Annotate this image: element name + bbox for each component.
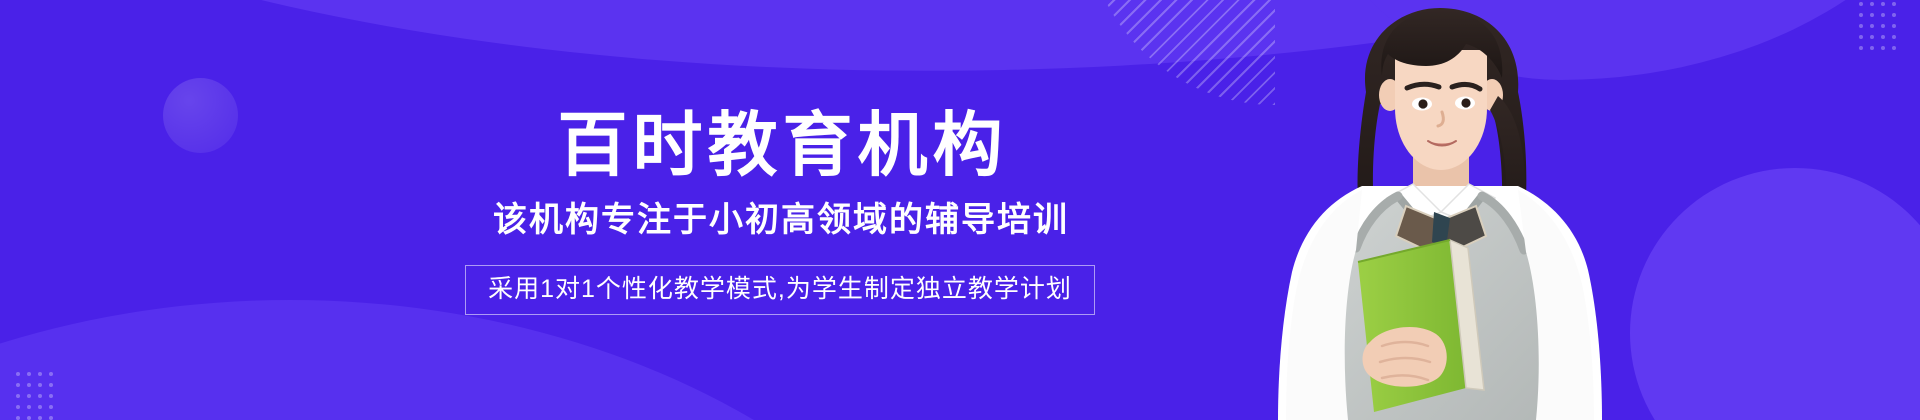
student-photo (1230, 0, 1650, 420)
dot (1859, 46, 1863, 50)
banner-title: 百时教育机构 (553, 105, 1008, 186)
dot (1870, 35, 1874, 39)
dot (1881, 35, 1885, 39)
decorative-dot-grid-top-right (1859, 2, 1896, 50)
face (1395, 50, 1487, 170)
banner-subtitle: 该机构专注于小初高领域的辅导培训 (491, 200, 1069, 241)
education-banner: 百时教育机构 该机构专注于小初高领域的辅导培训 采用1对1个性化教学模式,为学生… (0, 0, 1920, 420)
dot (1859, 13, 1863, 17)
banner-tagline-box: 采用1对1个性化教学模式,为学生制定独立教学计划 (465, 265, 1095, 316)
dot (1892, 46, 1896, 50)
dot (1892, 2, 1896, 6)
dot (1881, 13, 1885, 17)
dot (1870, 46, 1874, 50)
dot (1892, 24, 1896, 28)
dot (1892, 13, 1896, 17)
dot (1870, 24, 1874, 28)
dot (1892, 35, 1896, 39)
decorative-large-circle (1630, 168, 1920, 420)
dot (1859, 35, 1863, 39)
dot (1881, 24, 1885, 28)
dot (1859, 24, 1863, 28)
dot (1859, 2, 1863, 6)
pupil-left (1418, 99, 1427, 108)
dot (1881, 46, 1885, 50)
dot (1870, 2, 1874, 6)
dot (1881, 2, 1885, 6)
green-book (1358, 240, 1484, 412)
dot (1870, 13, 1874, 17)
pupil-right (1461, 98, 1470, 107)
banner-tagline: 采用1对1个性化教学模式,为学生制定独立教学计划 (488, 275, 1072, 303)
